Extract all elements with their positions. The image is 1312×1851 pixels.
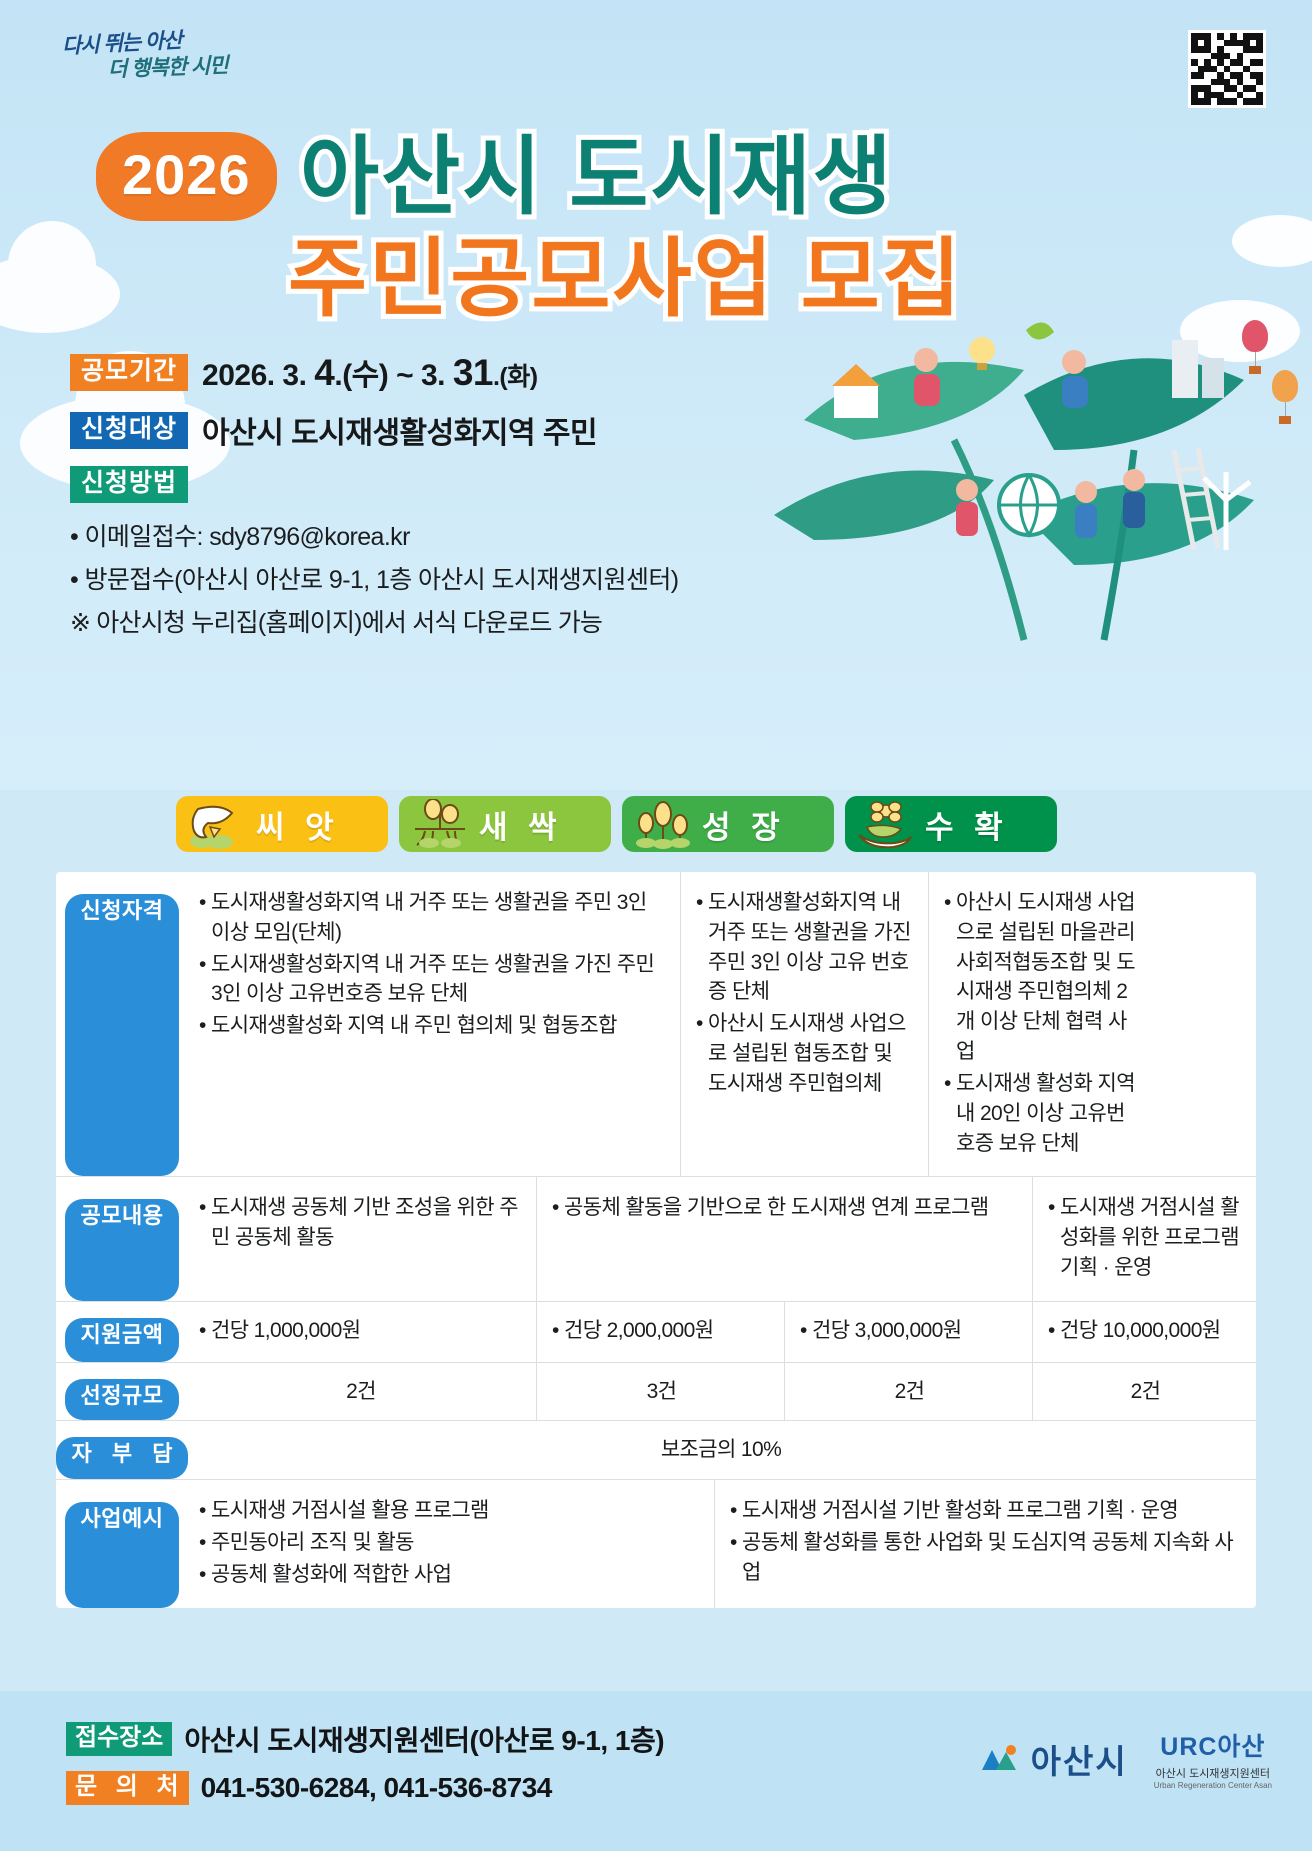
target-tag: 신청대상 bbox=[70, 412, 188, 449]
row-label-cell: 신청자격 bbox=[56, 872, 184, 1176]
tab-label: 새 싹 bbox=[479, 802, 563, 847]
period-day-end: 31 bbox=[453, 352, 493, 393]
tab-stage-harvest[interactable]: 수 확 bbox=[845, 796, 1057, 852]
footer-logos: 아산시 URC아산 아산시 도시재생지원센터 Urban Regeneratio… bbox=[978, 1727, 1272, 1790]
footer-bar: 접수장소 아산시 도시재생지원센터(아산로 9-1, 1층) 문 의 처 041… bbox=[0, 1691, 1312, 1851]
tab-stage-seed[interactable]: 씨 앗 bbox=[176, 796, 388, 852]
list-item: 도시재생 거점시설 기반 활성화 프로그램 기획 · 운영 bbox=[729, 1496, 1244, 1526]
table-row-funding: 지원금액 건당 1,000,000원 건당 2,000,000원 건당 3,00… bbox=[56, 1302, 1256, 1363]
stage-tabs: 씨 앗 새 싹 bbox=[176, 796, 1236, 852]
cell-funding-sprout: 건당 2,000,000원 bbox=[536, 1302, 784, 1362]
place-value: 아산시 도시재생지원센터(아산로 9-1, 1층) bbox=[184, 1719, 664, 1759]
row-label-cell: 공모내용 bbox=[56, 1177, 184, 1300]
list-item: 건당 3,000,000원 bbox=[799, 1316, 1020, 1346]
hand-harvest-icon bbox=[855, 799, 917, 849]
asan-logo-mark-icon bbox=[978, 1742, 1022, 1776]
poster-title: 2026 아산시 도시재생 주민공모사업 모집 bbox=[0, 96, 1312, 316]
list-item: 공동체 활성화를 통한 사업화 및 도심지역 공동체 지속화 사업 bbox=[729, 1528, 1244, 1588]
row-label-funding: 지원금액 bbox=[65, 1318, 180, 1362]
urc-logo-sub-ko: 아산시 도시재생지원센터 bbox=[1154, 1765, 1272, 1781]
cell-qualification-harvest: 아산시 도시재생 사업으로 설립된 마을관리사회적협동조합 및 도시재생 주민협… bbox=[928, 872, 1152, 1176]
slogan-line-2: 더 행복한 시민 bbox=[108, 51, 303, 84]
list-item: 이메일접수: sdy8796@korea.kr bbox=[70, 517, 810, 553]
period-suffix: .(화) bbox=[493, 363, 538, 391]
list-item: 도시재생 공동체 기반 조성을 위한 주민 공동체 활동 bbox=[198, 1193, 524, 1253]
row-label-content: 공모내용 bbox=[65, 1199, 180, 1300]
contact-tag: 문 의 처 bbox=[66, 1771, 189, 1805]
cell-examples-right: 도시재생 거점시설 기반 활성화 프로그램 기획 · 운영 공동체 활성화를 통… bbox=[714, 1480, 1256, 1607]
key-info-block: 공모기간 2026. 3. 4.(수) ~ 3. 31.(화) 신청대상 아산시… bbox=[70, 350, 810, 639]
tab-label: 수 확 bbox=[925, 802, 1009, 847]
cell-funding-harvest: 건당 10,000,000원 bbox=[1032, 1302, 1256, 1362]
cell-qualification-growth: 도시재생활성화지역 내 거주 또는 생활권을 가진 주민 3인 이상 고유 번호… bbox=[680, 872, 928, 1176]
list-item: 도시재생 활성화 지역 내 20인 이상 고유번호증 보유 단체 bbox=[943, 1069, 1140, 1158]
list-item: 방문접수(아산시 아산로 9-1, 1층 아산시 도시재생지원센터) bbox=[70, 560, 810, 596]
tab-stage-growth[interactable]: 성 장 bbox=[622, 796, 834, 852]
city-slogan: 다시 뛰는 아산 더 행복한 시민 bbox=[62, 28, 302, 98]
place-tag: 접수장소 bbox=[66, 1722, 172, 1756]
period-value: 2026. 3. 4.(수) ~ 3. 31.(화) bbox=[202, 350, 538, 394]
row-label-qualification: 신청자격 bbox=[65, 894, 180, 1176]
footer-row-place: 접수장소 아산시 도시재생지원센터(아산로 9-1, 1층) bbox=[66, 1719, 664, 1759]
footer-contact-block: 접수장소 아산시 도시재생지원센터(아산로 9-1, 1층) 문 의 처 041… bbox=[66, 1719, 664, 1817]
row-label-cell: 자 부 담 bbox=[56, 1421, 184, 1479]
cell-selection-harvest: 2건 bbox=[1032, 1363, 1256, 1421]
list-item: 건당 1,000,000원 bbox=[198, 1316, 524, 1346]
list-item: 도시재생활성화지역 내 거주 또는 생활권을 가진 주민 3인 이상 고유 번호… bbox=[695, 888, 916, 1007]
list-item: 도시재생 거점시설 활성화를 위한 프로그램 기획 · 운영 bbox=[1047, 1193, 1244, 1282]
asan-city-logo: 아산시 bbox=[978, 1735, 1128, 1783]
info-row-method: 신청방법 bbox=[70, 466, 810, 503]
cell-funding-seed: 건당 1,000,000원 bbox=[184, 1302, 536, 1362]
row-label-selection: 선정규모 bbox=[65, 1379, 180, 1421]
cell-examples-left: 도시재생 거점시설 활용 프로그램 주민동아리 조직 및 활동 공동체 활성화에… bbox=[184, 1480, 714, 1607]
list-item: 건당 2,000,000원 bbox=[551, 1316, 772, 1346]
tab-label: 성 장 bbox=[702, 802, 786, 847]
table-row-qualification: 신청자격 도시재생활성화지역 내 거주 또는 생활권을 주민 3인 이상 모임(… bbox=[56, 872, 1256, 1177]
footer-row-contact: 문 의 처 041-530-6284, 041-536-8734 bbox=[66, 1771, 664, 1805]
cell-self-funding-all: 보조금의 10% bbox=[184, 1421, 1256, 1479]
cell-funding-growth: 건당 3,000,000원 bbox=[784, 1302, 1032, 1362]
list-item: 도시재생활성화지역 내 거주 또는 생활권을 가진 주민 3인 이상 고유번호증… bbox=[198, 950, 668, 1010]
urc-logo-main: URC아산 bbox=[1154, 1727, 1272, 1763]
list-item: 도시재생 거점시설 활용 프로그램 bbox=[198, 1496, 702, 1526]
illustration-svg bbox=[774, 300, 1294, 660]
row-label-cell: 선정규모 bbox=[56, 1363, 184, 1421]
growing-plants-icon bbox=[632, 799, 694, 849]
asan-logo-text: 아산시 bbox=[1031, 1735, 1128, 1783]
list-item: 주민동아리 조직 및 활동 bbox=[198, 1528, 702, 1558]
tab-stage-sprout[interactable]: 새 싹 bbox=[399, 796, 611, 852]
table-row-content: 공모내용 도시재생 공동체 기반 조성을 위한 주민 공동체 활동 공동체 활동… bbox=[56, 1177, 1256, 1301]
list-item: 도시재생활성화 지역 내 주민 협의체 및 협동조합 bbox=[198, 1011, 668, 1041]
cell-selection-sprout: 3건 bbox=[536, 1363, 784, 1421]
info-row-target: 신청대상 아산시 도시재생활성화지역 주민 bbox=[70, 408, 810, 452]
period-middle: .(수) ~ 3. bbox=[334, 359, 452, 392]
table-row-self-funding: 자 부 담 보조금의 10% bbox=[56, 1421, 1256, 1480]
city-regeneration-illustration bbox=[774, 300, 1294, 660]
hand-sowing-seed-icon bbox=[186, 799, 248, 849]
target-value: 아산시 도시재생활성화지역 주민 bbox=[202, 408, 597, 452]
program-comparison-table: 신청자격 도시재생활성화지역 내 거주 또는 생활권을 주민 3인 이상 모임(… bbox=[56, 872, 1256, 1608]
urc-asan-logo: URC아산 아산시 도시재생지원센터 Urban Regeneration Ce… bbox=[1154, 1727, 1272, 1790]
row-label-cell: 사업예시 bbox=[56, 1480, 184, 1607]
hot-air-balloon-icon bbox=[1242, 320, 1268, 374]
urc-logo-sub-en: Urban Regeneration Center Asan bbox=[1154, 1781, 1272, 1790]
row-label-cell: 지원금액 bbox=[56, 1302, 184, 1362]
list-item: 공동체 활동을 기반으로 한 도시재생 연계 프로그램 bbox=[551, 1193, 1020, 1223]
sprout-roots-icon bbox=[409, 799, 471, 849]
info-row-period: 공모기간 2026. 3. 4.(수) ~ 3. 31.(화) bbox=[70, 350, 810, 394]
cell-content-harvest: 도시재생 거점시설 활성화를 위한 프로그램 기획 · 운영 bbox=[1032, 1177, 1256, 1300]
download-note: ※ 아산시청 누리집(홈페이지)에서 서식 다운로드 가능 bbox=[70, 603, 810, 639]
tab-label: 씨 앗 bbox=[256, 802, 340, 847]
year-badge: 2026 bbox=[96, 132, 277, 221]
list-item: 도시재생활성화지역 내 거주 또는 생활권을 주민 3인 이상 모임(단체) bbox=[198, 888, 668, 948]
list-item: 아산시 도시재생 사업으로 설립된 마을관리사회적협동조합 및 도시재생 주민협… bbox=[943, 888, 1140, 1067]
list-item: 건당 10,000,000원 bbox=[1047, 1316, 1244, 1346]
list-item: 공동체 활성화에 적합한 사업 bbox=[198, 1560, 702, 1590]
method-list: 이메일접수: sdy8796@korea.kr 방문접수(아산시 아산로 9-1… bbox=[70, 517, 810, 596]
cell-selection-growth: 2건 bbox=[784, 1363, 1032, 1421]
row-label-self-funding: 자 부 담 bbox=[56, 1437, 188, 1479]
table-row-selection: 선정규모 2건 3건 2건 2건 bbox=[56, 1363, 1256, 1422]
period-tag: 공모기간 bbox=[70, 354, 188, 391]
cell-content-seed: 도시재생 공동체 기반 조성을 위한 주민 공동체 활동 bbox=[184, 1177, 536, 1300]
method-tag: 신청방법 bbox=[70, 466, 188, 503]
list-item: 아산시 도시재생 사업으로 설립된 협동조합 및 도시재생 주민협의체 bbox=[695, 1009, 916, 1098]
contact-value: 041-530-6284, 041-536-8734 bbox=[201, 1772, 552, 1804]
period-prefix: 2026. 3. bbox=[202, 359, 314, 392]
cell-qualification-seed-sprout: 도시재생활성화지역 내 거주 또는 생활권을 주민 3인 이상 모임(단체) 도… bbox=[184, 872, 680, 1176]
hot-air-balloon-icon bbox=[1272, 370, 1298, 424]
table-row-examples: 사업예시 도시재생 거점시설 활용 프로그램 주민동아리 조직 및 활동 공동체… bbox=[56, 1480, 1256, 1607]
period-day-start: 4 bbox=[314, 352, 334, 393]
row-label-examples: 사업예시 bbox=[65, 1502, 180, 1607]
cell-selection-seed: 2건 bbox=[184, 1363, 536, 1421]
cell-content-sprout-growth: 공동체 활동을 기반으로 한 도시재생 연계 프로그램 bbox=[536, 1177, 1032, 1300]
